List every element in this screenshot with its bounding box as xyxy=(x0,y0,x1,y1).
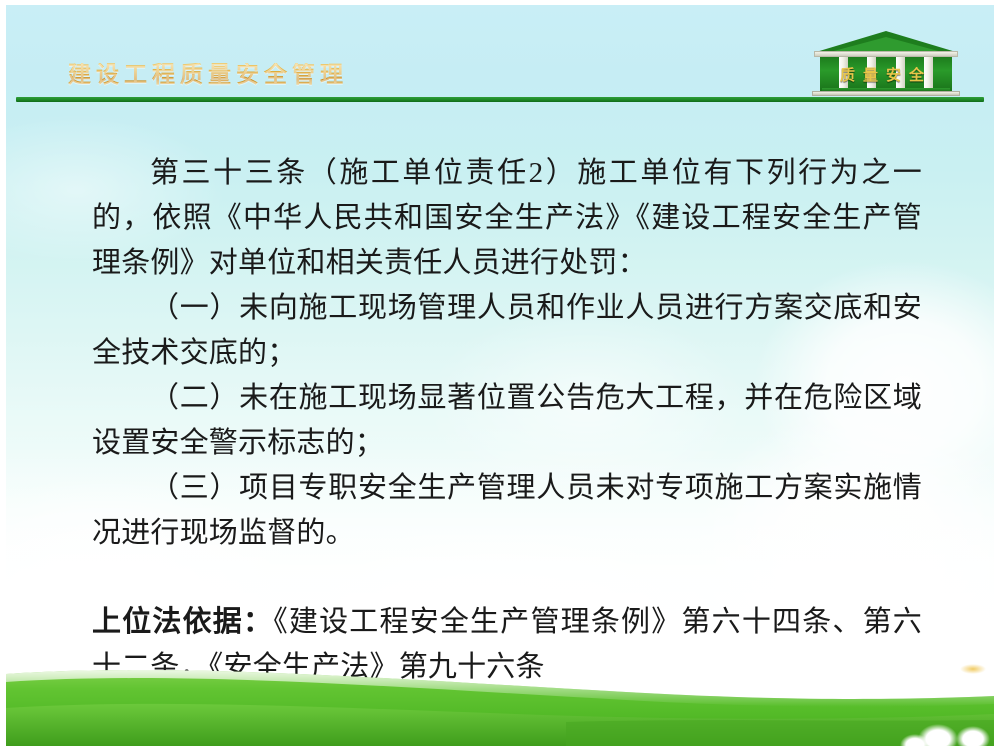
article-33-paragraph: 第三十三条（施工单位责任2）施工单位有下列行为之一的，依照《中华人民共和国安全生… xyxy=(92,151,922,286)
white-flower-icon xyxy=(918,724,958,746)
presentation-slide: 建设工程质量安全管理 质量安全 第三十三条（施工单位责任2）施工单位有下列行 xyxy=(0,0,1000,750)
slide-header: 建设工程质量安全管理 质量安全 xyxy=(6,5,994,105)
legal-basis-label: 上位法依据： xyxy=(92,606,273,638)
slide-canvas: 建设工程质量安全管理 质量安全 第三十三条（施工单位责任2）施工单位有下列行 xyxy=(6,5,994,746)
quality-safety-logo: 质量安全 xyxy=(812,31,960,101)
temple-roof-highlight-icon xyxy=(830,37,942,52)
slide-body: 第三十三条（施工单位责任2）施工单位有下列行为之一的，依照《中华人民共和国安全生… xyxy=(92,151,922,690)
temple-base-icon xyxy=(812,91,960,96)
page-title: 建设工程质量安全管理 xyxy=(68,63,348,86)
item-one-paragraph: （一）未向施工现场管理人员和作业人员进行方案交底和安全技术交底的； xyxy=(92,286,922,376)
item-three-paragraph: （三）项目专职安全生产管理人员未对专项施工方案实施情况进行现场监督的。 xyxy=(92,466,922,556)
grass-hill-icon xyxy=(6,656,994,746)
logo-label: 质量安全 xyxy=(820,64,952,85)
white-flower-icon xyxy=(956,726,990,746)
item-two-paragraph: （二）未在施工现场显著位置公告危大工程，并在危险区域设置安全警示标志的； xyxy=(92,376,922,466)
sun-glint-icon xyxy=(960,664,986,674)
grass-field xyxy=(6,656,994,746)
